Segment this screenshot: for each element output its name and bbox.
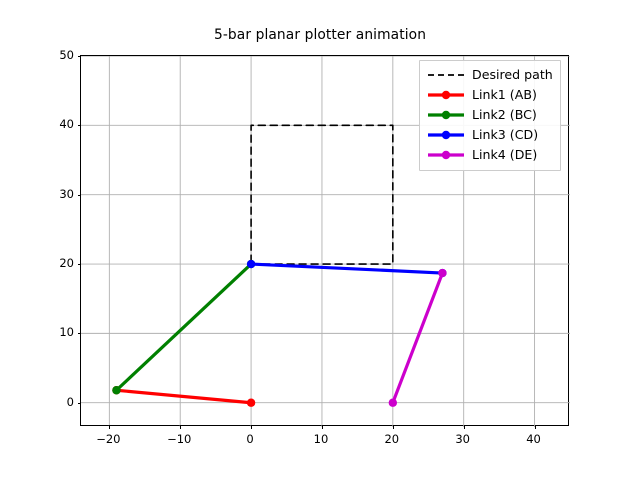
legend[interactable]: Desired pathLink1 (AB)Link2 (BC)Link3 (C…: [419, 60, 561, 171]
x-tick-mark: [464, 425, 465, 429]
x-tick-label: −10: [149, 432, 209, 446]
page-title: 5-bar planar plotter animation: [0, 27, 640, 43]
legend-swatch-icon: [427, 127, 465, 143]
series-marker: [247, 399, 255, 407]
series-line: [116, 390, 251, 402]
legend-item-2[interactable]: Link2 (BC): [427, 105, 553, 125]
legend-item-3[interactable]: Link3 (CD): [427, 125, 553, 145]
x-tick-label: 10: [291, 432, 351, 446]
legend-label: Desired path: [472, 69, 553, 82]
x-tick-mark: [535, 425, 536, 429]
series-line: [116, 264, 251, 390]
legend-swatch-icon: [427, 67, 465, 83]
x-tick-label: 0: [220, 432, 280, 446]
legend-label: Link3 (CD): [472, 129, 538, 142]
legend-swatch-icon: [427, 147, 465, 163]
legend-item-4[interactable]: Link4 (DE): [427, 145, 553, 165]
series-marker: [389, 399, 397, 407]
series-marker: [438, 269, 446, 277]
y-tick-label: 0: [34, 395, 74, 409]
series-marker: [247, 260, 255, 268]
y-tick-label: 20: [34, 256, 74, 270]
x-tick-label: −20: [78, 432, 138, 446]
legend-swatch-icon: [427, 107, 465, 123]
legend-label: Link1 (AB): [472, 89, 537, 102]
legend-swatch-icon: [427, 87, 465, 103]
legend-label: Link2 (BC): [472, 109, 537, 122]
x-tick-mark: [251, 425, 252, 429]
legend-label: Link4 (DE): [472, 149, 537, 162]
x-tick-mark: [180, 425, 181, 429]
series-line: [393, 273, 443, 403]
x-tick-label: 30: [433, 432, 493, 446]
legend-item-0[interactable]: Desired path: [427, 65, 553, 85]
x-tick-label: 20: [362, 432, 422, 446]
y-tick-mark: [78, 403, 82, 404]
y-tick-label: 10: [34, 325, 74, 339]
x-tick-label: 40: [504, 432, 564, 446]
y-tick-mark: [78, 195, 82, 196]
y-tick-label: 50: [34, 48, 74, 62]
x-tick-mark: [393, 425, 394, 429]
y-tick-mark: [78, 56, 82, 57]
y-tick-label: 40: [34, 117, 74, 131]
x-tick-mark: [322, 425, 323, 429]
series-marker: [112, 386, 120, 394]
legend-item-1[interactable]: Link1 (AB): [427, 85, 553, 105]
x-tick-mark: [109, 425, 110, 429]
series-layer: [112, 125, 446, 407]
y-axis-tick-labels: 01020304050: [26, 55, 74, 426]
y-tick-mark: [78, 333, 82, 334]
y-tick-mark: [78, 125, 82, 126]
series-line: [251, 264, 442, 273]
x-axis-tick-labels: −20−10010203040: [80, 432, 569, 452]
figure-canvas: 5-bar planar plotter animation 010203040…: [0, 0, 640, 480]
y-tick-label: 30: [34, 187, 74, 201]
y-tick-mark: [78, 264, 82, 265]
